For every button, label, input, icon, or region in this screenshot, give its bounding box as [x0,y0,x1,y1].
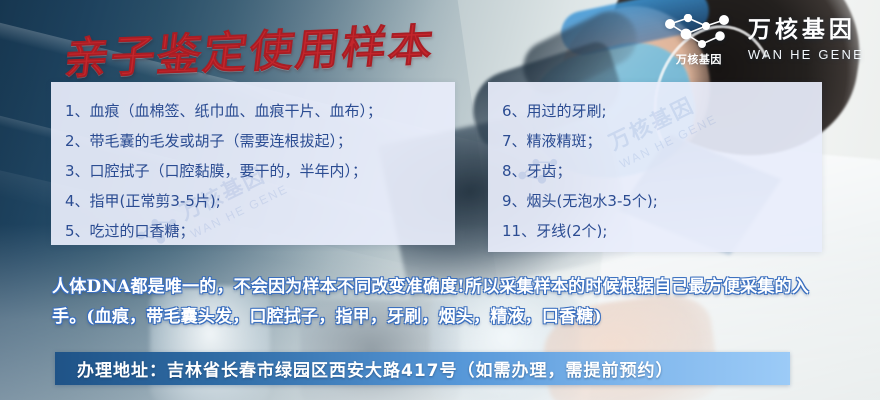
logo-wordmark: 万核基因 WAN HE GENE [748,19,864,61]
poster-root: 万核基因 万核基因 WAN HE GENE 亲子鉴定使用样本 万核基因 WAN … [0,0,880,400]
note-paragraph: 人体DNA都是唯一的，不会因为样本不同改变准确度!所以采集样本的时候根据自己最方… [52,272,842,332]
sample-panel-left: 万核基因 WAN HE GENE 1、血痕（血棉签、纸巾血、血痕干片、血布）； … [51,82,455,245]
logo-mark-label: 万核基因 [662,51,736,67]
list-item: 1、血痕（血棉签、纸巾血、血痕干片、血布）； [65,96,455,126]
list-item: 5、吃过的口香糖； [65,216,455,245]
list-item: 7、精液精斑； [502,126,822,156]
dna-molecule-icon: 万核基因 [662,14,736,66]
list-item: 2、带毛囊的毛发或胡子（需要连根拔起）； [65,126,455,156]
list-item: 4、指甲(正常剪3-5片); [65,186,455,216]
address-bar: 办理地址：吉林省长春市绿园区西安大路417号（如需办理，需提前预约） [55,352,790,385]
list-item: 9、烟头(无泡水3-5个); [502,186,822,216]
logo-name-cn: 万核基因 [748,19,864,42]
sample-list-left: 1、血痕（血棉签、纸巾血、血痕干片、血布）； 2、带毛囊的毛发或胡子（需要连根拔… [51,82,455,245]
list-item: 6、用过的牙刷; [502,96,822,126]
sample-panel-right: 万核基因 WAN HE GENE 6、用过的牙刷; 7、精液精斑； 8、牙齿； … [488,82,822,252]
list-item: 3、口腔拭子（口腔黏膜，要干的，半年内）； [65,156,455,186]
brand-logo: 万核基因 万核基因 WAN HE GENE [662,14,864,66]
address-text: 办理地址：吉林省长春市绿园区西安大路417号（如需办理，需提前预约） [55,356,674,381]
list-item: 8、牙齿； [502,156,822,186]
list-item: 11、牙线(2个); [502,216,822,246]
logo-name-en: WAN HE GENE [748,48,864,61]
sample-list-right: 6、用过的牙刷; 7、精液精斑； 8、牙齿； 9、烟头(无泡水3-5个); 11… [488,82,822,246]
